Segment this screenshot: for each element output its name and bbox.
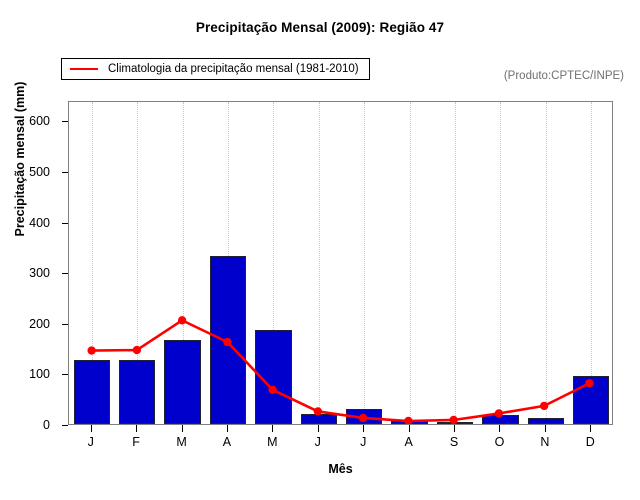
x-axis-tick-mark — [136, 425, 137, 432]
x-axis-tick-label: J — [71, 435, 111, 449]
x-axis-tick-label: D — [570, 435, 610, 449]
climatology-data-point — [404, 417, 412, 424]
y-axis-tick-label: 300 — [0, 266, 62, 280]
x-axis-tick-mark — [499, 425, 500, 432]
y-axis: 0100200300400500600 — [0, 101, 62, 425]
x-axis-title: Mês — [68, 462, 613, 476]
x-axis-tick-label: S — [434, 435, 474, 449]
plot-area — [68, 101, 613, 425]
chart-canvas: Precipitação Mensal (2009): Região 47 (P… — [0, 0, 640, 500]
chart-legend: Climatologia da precipitação mensal (198… — [61, 58, 370, 80]
line-series-climatology — [69, 102, 612, 424]
climatology-data-point — [359, 414, 367, 422]
climatology-data-point — [133, 346, 141, 354]
x-axis-tick-label: N — [525, 435, 565, 449]
x-axis-tick-label: O — [479, 435, 519, 449]
climatology-data-point — [87, 346, 95, 354]
climatology-polyline — [92, 320, 590, 421]
y-axis-tick-label: 500 — [0, 165, 62, 179]
x-axis-tick-mark — [272, 425, 273, 432]
climatology-data-point — [495, 409, 503, 417]
x-axis-tick-mark — [545, 425, 546, 432]
climatology-data-point — [540, 402, 548, 410]
y-axis-tick-label: 100 — [0, 367, 62, 381]
x-axis-tick-label: J — [343, 435, 383, 449]
x-axis-tick-mark — [227, 425, 228, 432]
y-axis-tick-mark — [62, 425, 68, 426]
chart-title: Precipitação Mensal (2009): Região 47 — [0, 20, 640, 35]
climatology-data-point — [223, 338, 231, 346]
legend-line-swatch-climatology — [70, 68, 98, 70]
y-axis-tick-label: 400 — [0, 216, 62, 230]
x-axis-tick-label: M — [162, 435, 202, 449]
climatology-data-point — [178, 316, 186, 324]
y-axis-tick-label: 600 — [0, 114, 62, 128]
x-axis-tick-mark — [182, 425, 183, 432]
x-axis-tick-mark — [454, 425, 455, 432]
legend-label-climatology: Climatologia da precipitação mensal (198… — [108, 63, 359, 75]
product-credit: (Produto:CPTEC/INPE) — [504, 70, 624, 82]
x-axis-tick-label: A — [389, 435, 429, 449]
x-axis-tick-label: A — [207, 435, 247, 449]
x-axis-tick-mark — [363, 425, 364, 432]
x-axis-tick-label: M — [252, 435, 292, 449]
x-axis-tick-label: F — [116, 435, 156, 449]
climatology-data-point — [449, 416, 457, 424]
x-axis-tick-mark — [590, 425, 591, 432]
y-axis-tick-label: 0 — [0, 418, 62, 432]
x-axis-tick-label: J — [298, 435, 338, 449]
x-axis-tick-mark — [91, 425, 92, 432]
y-axis-tick-label: 200 — [0, 317, 62, 331]
climatology-data-point — [268, 386, 276, 394]
x-axis-tick-mark — [318, 425, 319, 432]
climatology-data-point — [585, 379, 593, 387]
x-axis-tick-mark — [409, 425, 410, 432]
climatology-data-point — [314, 407, 322, 415]
